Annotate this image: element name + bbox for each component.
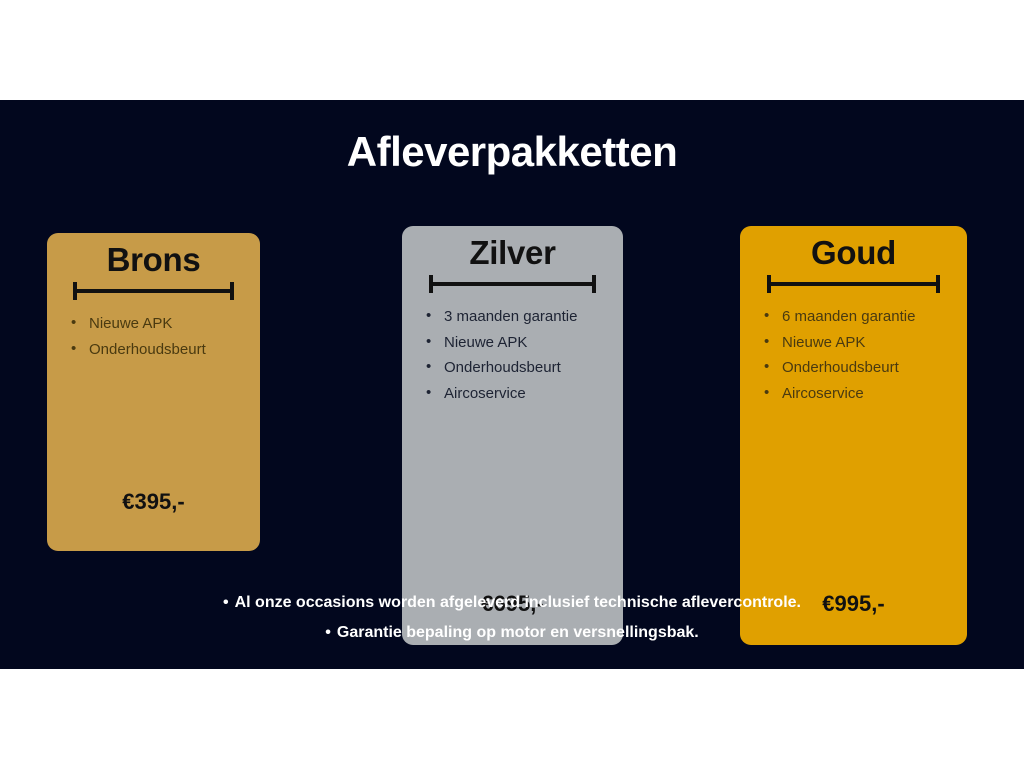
feature-item: Aircoservice [762, 381, 957, 407]
package-card-body: Brons Nieuwe APK Onderhoudsbeurt €395,- [47, 233, 260, 551]
title-divider-icon [767, 275, 940, 293]
package-title: Zilver [402, 234, 623, 272]
divider-bar [73, 289, 235, 293]
divider-bar [767, 282, 940, 286]
feature-item: 6 maanden garantie [762, 304, 957, 330]
feature-item: Nieuwe APK [762, 330, 957, 356]
divider-bar [429, 282, 597, 286]
feature-item: Nieuwe APK [69, 311, 250, 337]
feature-list: 6 maanden garantie Nieuwe APK Onderhouds… [762, 304, 957, 406]
package-title: Brons [47, 241, 260, 279]
footer-note-text: Garantie bepaling op motor en versnellin… [337, 624, 699, 641]
feature-list: Nieuwe APK Onderhoudsbeurt [69, 311, 250, 362]
divider-cap-right [936, 275, 940, 293]
title-divider-icon [429, 275, 597, 293]
package-card-zilver[interactable]: Zilver 3 maanden garantie Nieuwe APK Ond… [402, 226, 623, 645]
package-title: Goud [740, 234, 967, 272]
bullet-icon: • [325, 624, 331, 641]
footer-note: •Garantie bepaling op motor en versnelli… [0, 618, 1024, 648]
bullet-icon: • [223, 594, 229, 611]
divider-cap-right [592, 275, 596, 293]
feature-item: Onderhoudsbeurt [424, 355, 613, 381]
title-divider-icon [73, 282, 235, 300]
footer-note-text: Al onze occasions worden afgeleverd incl… [235, 594, 801, 611]
package-card-brons[interactable]: Brons Nieuwe APK Onderhoudsbeurt €395,- [47, 233, 260, 551]
footer-note: •Al onze occasions worden afgeleverd inc… [0, 588, 1024, 618]
feature-item: Onderhoudsbeurt [762, 355, 957, 381]
feature-list: 3 maanden garantie Nieuwe APK Onderhouds… [424, 304, 613, 406]
pricing-panel: Afleverpakketten Brons Nieuwe APK Onderh… [0, 100, 1024, 669]
feature-item: Onderhoudsbeurt [69, 337, 250, 363]
footer-note-list: •Al onze occasions worden afgeleverd inc… [0, 588, 1024, 648]
divider-cap-right [230, 282, 234, 300]
page-title: Afleverpakketten [0, 128, 1024, 176]
feature-item: 3 maanden garantie [424, 304, 613, 330]
package-price: €395,- [47, 489, 260, 515]
slide-canvas: Afleverpakketten Brons Nieuwe APK Onderh… [0, 0, 1024, 768]
package-card-body: Zilver 3 maanden garantie Nieuwe APK Ond… [402, 226, 623, 645]
feature-item: Nieuwe APK [424, 330, 613, 356]
feature-item: Aircoservice [424, 381, 613, 407]
package-card-body: Goud 6 maanden garantie Nieuwe APK Onder… [740, 226, 967, 645]
package-card-goud[interactable]: Goud 6 maanden garantie Nieuwe APK Onder… [740, 226, 967, 645]
